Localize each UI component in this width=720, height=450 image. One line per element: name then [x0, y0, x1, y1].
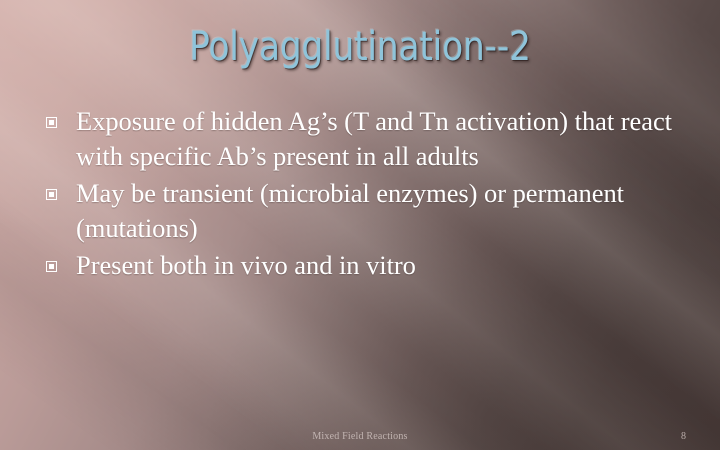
- list-item: May be transient (microbial enzymes) or …: [46, 176, 684, 246]
- list-item: Exposure of hidden Ag’s (T and Tn activa…: [46, 104, 684, 174]
- list-item: Present both in vivo and in vitro: [46, 248, 684, 283]
- presentation-slide: Polyagglutination--2 Exposure of hidden …: [0, 0, 720, 450]
- slide-footer-label: Mixed Field Reactions: [0, 431, 720, 442]
- square-in-square-bullet-icon: [46, 104, 76, 133]
- bullet-text: Present both in vivo and in vitro: [76, 248, 684, 283]
- slide-body-bullet-list: Exposure of hidden Ag’s (T and Tn activa…: [46, 104, 684, 285]
- square-in-square-bullet-icon: [46, 248, 76, 277]
- slide-title: Polyagglutination--2: [50, 24, 669, 70]
- square-in-square-bullet-icon: [46, 176, 76, 205]
- bullet-text: May be transient (microbial enzymes) or …: [76, 176, 684, 246]
- slide-page-number: 8: [681, 431, 686, 442]
- bullet-text: Exposure of hidden Ag’s (T and Tn activa…: [76, 104, 684, 174]
